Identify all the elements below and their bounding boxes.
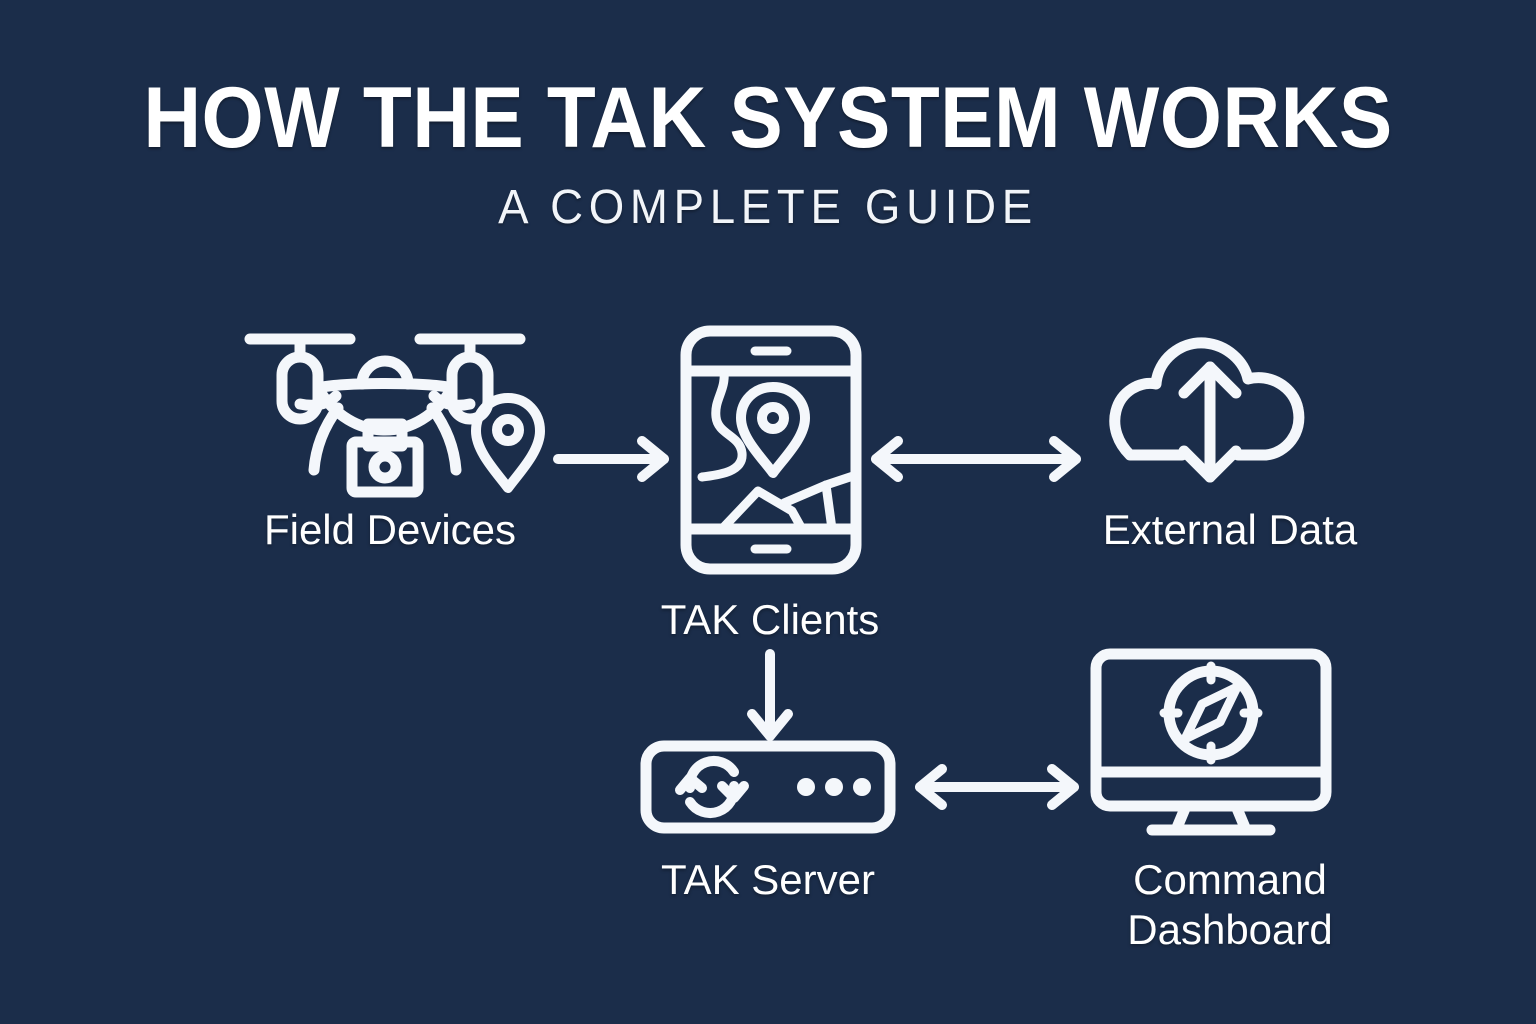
infographic-canvas: HOW THE TAK SYSTEM WORKS A COMPLETE GUID…	[0, 0, 1536, 1024]
node-label-tak-server: TAK Server	[578, 855, 958, 905]
arrow-left-right-icon-2	[912, 761, 1082, 813]
node-label-field-devices: Field Devices	[195, 505, 585, 555]
header-block: HOW THE TAK SYSTEM WORKS A COMPLETE GUID…	[0, 72, 1536, 236]
location-pin-icon	[468, 390, 548, 496]
page-subtitle: A COMPLETE GUIDE	[38, 180, 1497, 236]
node-label-external-data: External Data	[1030, 505, 1430, 555]
arrow-right-icon	[552, 433, 680, 485]
monitor-compass-icon	[1090, 648, 1332, 838]
node-label-command-dashboard: Command Dashboard	[1030, 855, 1430, 955]
arrow-down-icon	[744, 650, 796, 748]
page-title: HOW THE TAK SYSTEM WORKS	[54, 72, 1482, 164]
server-sync-icon	[640, 740, 896, 834]
cloud-sync-icon	[1108, 315, 1320, 505]
arrow-left-right-icon	[868, 433, 1084, 485]
node-label-tak-clients: TAK Clients	[580, 595, 960, 645]
smartphone-map-icon	[680, 325, 862, 575]
